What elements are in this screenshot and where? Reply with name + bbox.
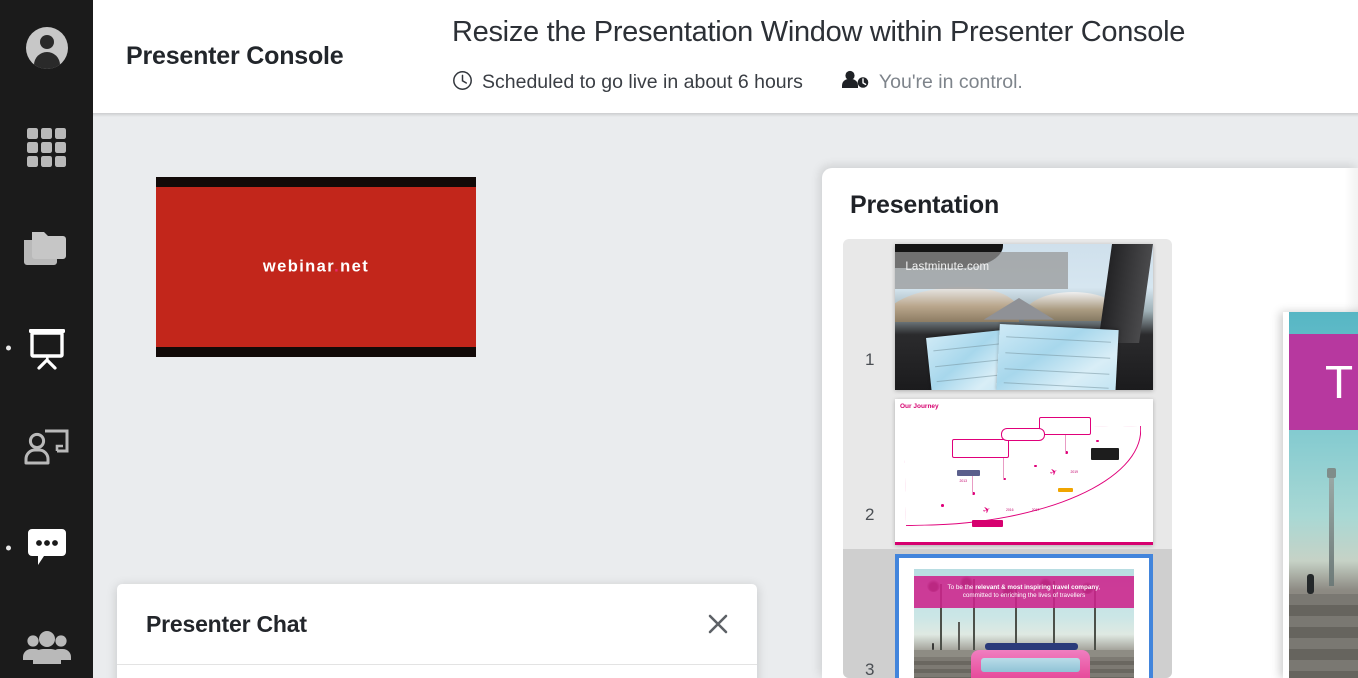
presentation-panel-title: Presentation <box>850 191 999 220</box>
current-slide-caption-text: T <box>1325 355 1353 409</box>
webinar-title: Resize the Presentation Window within Pr… <box>452 16 1185 49</box>
left-sidebar <box>0 0 93 678</box>
presenter-chat-panel: Presenter Chat <box>117 584 757 678</box>
logo-word: webinar <box>263 258 334 276</box>
presenter-control-icon <box>841 69 870 96</box>
slide-1-artwork: Lastminute.com <box>895 244 1153 390</box>
caption-line2: committed to enriching the lives of trav… <box>963 592 1086 600</box>
presenter-screen-icon <box>23 427 71 469</box>
chat-bubble-icon <box>24 527 70 569</box>
slide-3-artwork: To be the relevant & most inspiring trav… <box>899 558 1149 678</box>
grid-icon <box>25 126 69 170</box>
caption-pre: To be the <box>948 584 976 591</box>
caption-post: , <box>1099 584 1101 591</box>
webinar-net-logo: webinar.net <box>156 258 476 277</box>
slide-3-caption: To be the relevant & most inspiring trav… <box>914 576 1134 608</box>
chat-message-list[interactable] <box>117 665 757 678</box>
steps <box>1289 594 1358 678</box>
slide-1-caption: Lastminute.com <box>905 261 989 273</box>
main-content: webinar.net Presenter Chat Presentation <box>93 113 1358 678</box>
user-avatar[interactable] <box>26 27 68 69</box>
folders-icon <box>24 228 70 268</box>
sidebar-item-presentation[interactable] <box>0 316 93 380</box>
projector-screen-icon <box>24 325 70 371</box>
presentation-panel: Presentation 1 <box>822 168 1358 678</box>
top-header: Presenter Console Resize the Presentatio… <box>93 0 1358 113</box>
sidebar-item-files[interactable] <box>0 216 93 280</box>
avatar-body <box>34 52 60 69</box>
sidebar-item-attendees[interactable] <box>0 616 93 678</box>
avatar-head <box>40 35 54 49</box>
chat-panel-title: Presenter Chat <box>146 611 307 638</box>
slide-number: 1 <box>865 350 895 370</box>
figure <box>1307 574 1314 594</box>
control-status: You're in control. <box>841 69 1023 96</box>
active-indicator-dot <box>6 546 11 551</box>
page-title: Presenter Console <box>126 42 344 71</box>
presenter-console-app: Presenter Console Resize the Presentatio… <box>0 0 1358 678</box>
close-icon[interactable] <box>703 609 733 639</box>
logo-tld: net <box>340 258 369 276</box>
letterbox-bottom <box>156 347 476 357</box>
header-meta-row: Scheduled to go live in about 6 hours Yo… <box>452 69 1023 96</box>
sidebar-item-chat[interactable] <box>0 516 93 580</box>
active-indicator-dot <box>6 346 11 351</box>
slide-list-item[interactable]: 3 <box>843 549 1172 678</box>
video-preview[interactable]: webinar.net <box>156 177 476 357</box>
letterbox-top <box>156 177 476 187</box>
slide-thumbnail-selected[interactable]: To be the relevant & most inspiring trav… <box>895 554 1153 678</box>
slide-2-caption: Our Journey <box>900 403 939 410</box>
current-slide-artwork: T <box>1289 312 1358 678</box>
slide-list-item[interactable]: 2 Our Journey <box>843 394 1172 549</box>
clock-icon <box>452 70 473 96</box>
schedule-status: Scheduled to go live in about 6 hours <box>452 70 803 96</box>
slide-number: 3 <box>865 660 895 678</box>
current-slide-view[interactable]: T <box>1283 312 1358 678</box>
slide-thumbnail[interactable]: Lastminute.com <box>895 244 1153 390</box>
slide-thumbnail-list[interactable]: 1 <box>843 239 1172 678</box>
sidebar-item-presenter-screen[interactable] <box>0 416 93 480</box>
sidebar-item-apps-grid[interactable] <box>0 116 93 180</box>
chat-panel-header: Presenter Chat <box>117 584 757 665</box>
people-group-icon <box>23 629 71 667</box>
schedule-status-text: Scheduled to go live in about 6 hours <box>482 71 803 94</box>
slide-2-artwork: Our Journey <box>895 399 1153 545</box>
lamp-post <box>1329 476 1334 586</box>
slide-thumbnail[interactable]: Our Journey <box>895 399 1153 545</box>
control-status-text: You're in control. <box>879 71 1023 94</box>
slide-list-item[interactable]: 1 <box>843 239 1172 394</box>
caption-bold: relevant & most inspiring travel company <box>975 584 1099 591</box>
current-slide-caption-band: T <box>1289 334 1358 430</box>
slide-number: 2 <box>865 505 895 525</box>
